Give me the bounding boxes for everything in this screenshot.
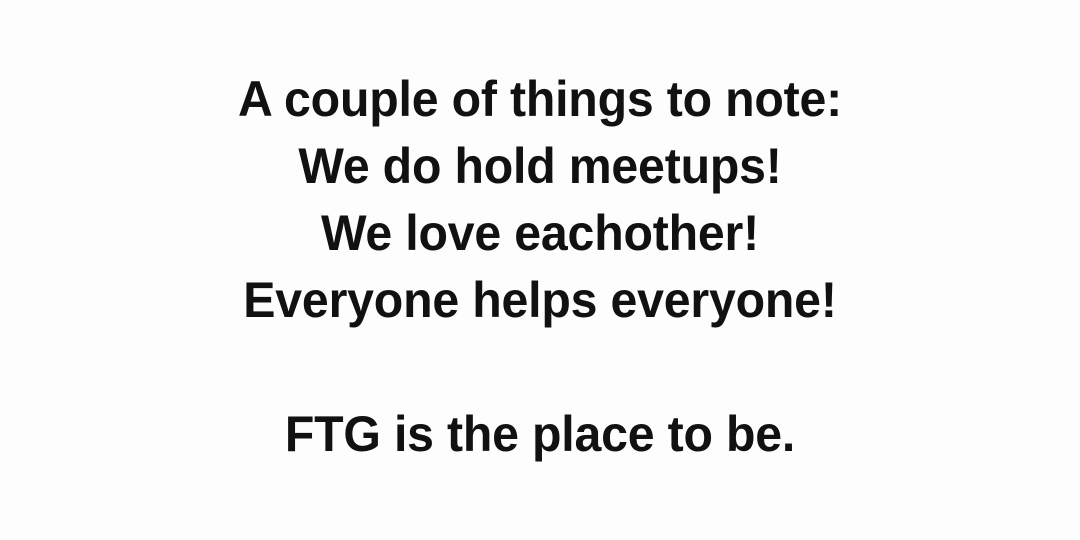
text-block: A couple of things to note: We do hold m…	[0, 0, 1080, 468]
slide-canvas: A couple of things to note: We do hold m…	[0, 0, 1080, 540]
slide-point-3: Everyone helps everyone!	[19, 267, 1061, 334]
slide-point-1: We do hold meetups!	[19, 133, 1061, 200]
slide-point-2: We love eachother!	[19, 200, 1061, 267]
slide-closing: FTG is the place to be.	[19, 401, 1061, 468]
slide-heading: A couple of things to note:	[19, 66, 1061, 133]
slide-blank-line	[19, 334, 1061, 401]
